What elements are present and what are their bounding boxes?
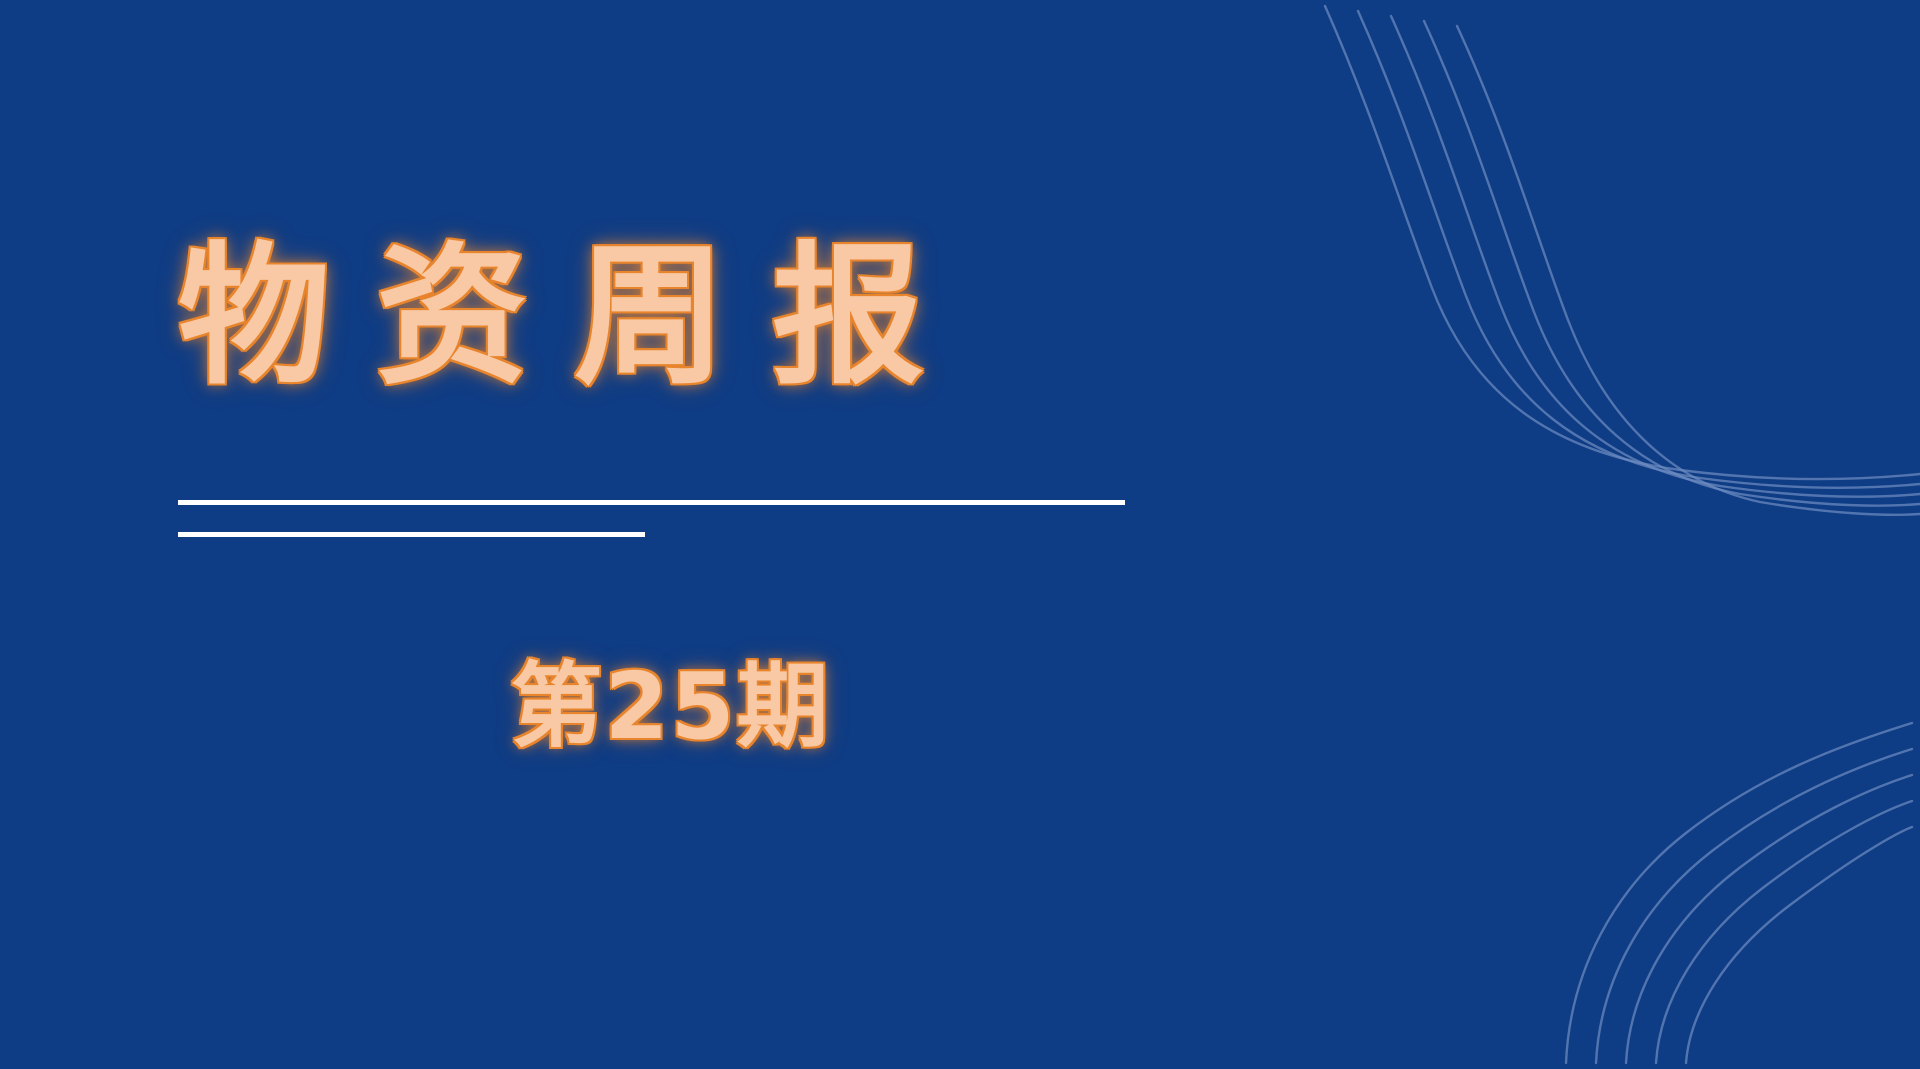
issue-subtitle: 第25期 [178, 654, 1163, 760]
arc-curve-line-2 [1596, 749, 1912, 1063]
title-underline-long [178, 500, 1125, 505]
title-block: 物资周报 [178, 232, 1278, 402]
bottom-right-curves-decoration [1490, 709, 1920, 1069]
arc-curve-line-1 [1566, 723, 1912, 1063]
s-curve-line-3 [1391, 16, 1920, 497]
s-curve-line-5 [1457, 26, 1920, 515]
arc-curve-line-4 [1656, 801, 1912, 1063]
top-right-curves-decoration [1280, 0, 1920, 570]
s-curve-line-2 [1358, 11, 1920, 488]
arc-curve-line-5 [1686, 827, 1912, 1063]
s-curve-line-1 [1325, 6, 1920, 479]
title-slide: 物资周报 第25期 [0, 0, 1920, 1069]
arc-curve-line-3 [1626, 775, 1912, 1063]
s-curve-line-4 [1424, 21, 1920, 506]
title-underline-short [178, 532, 645, 537]
page-title: 物资周报 [178, 232, 1278, 402]
